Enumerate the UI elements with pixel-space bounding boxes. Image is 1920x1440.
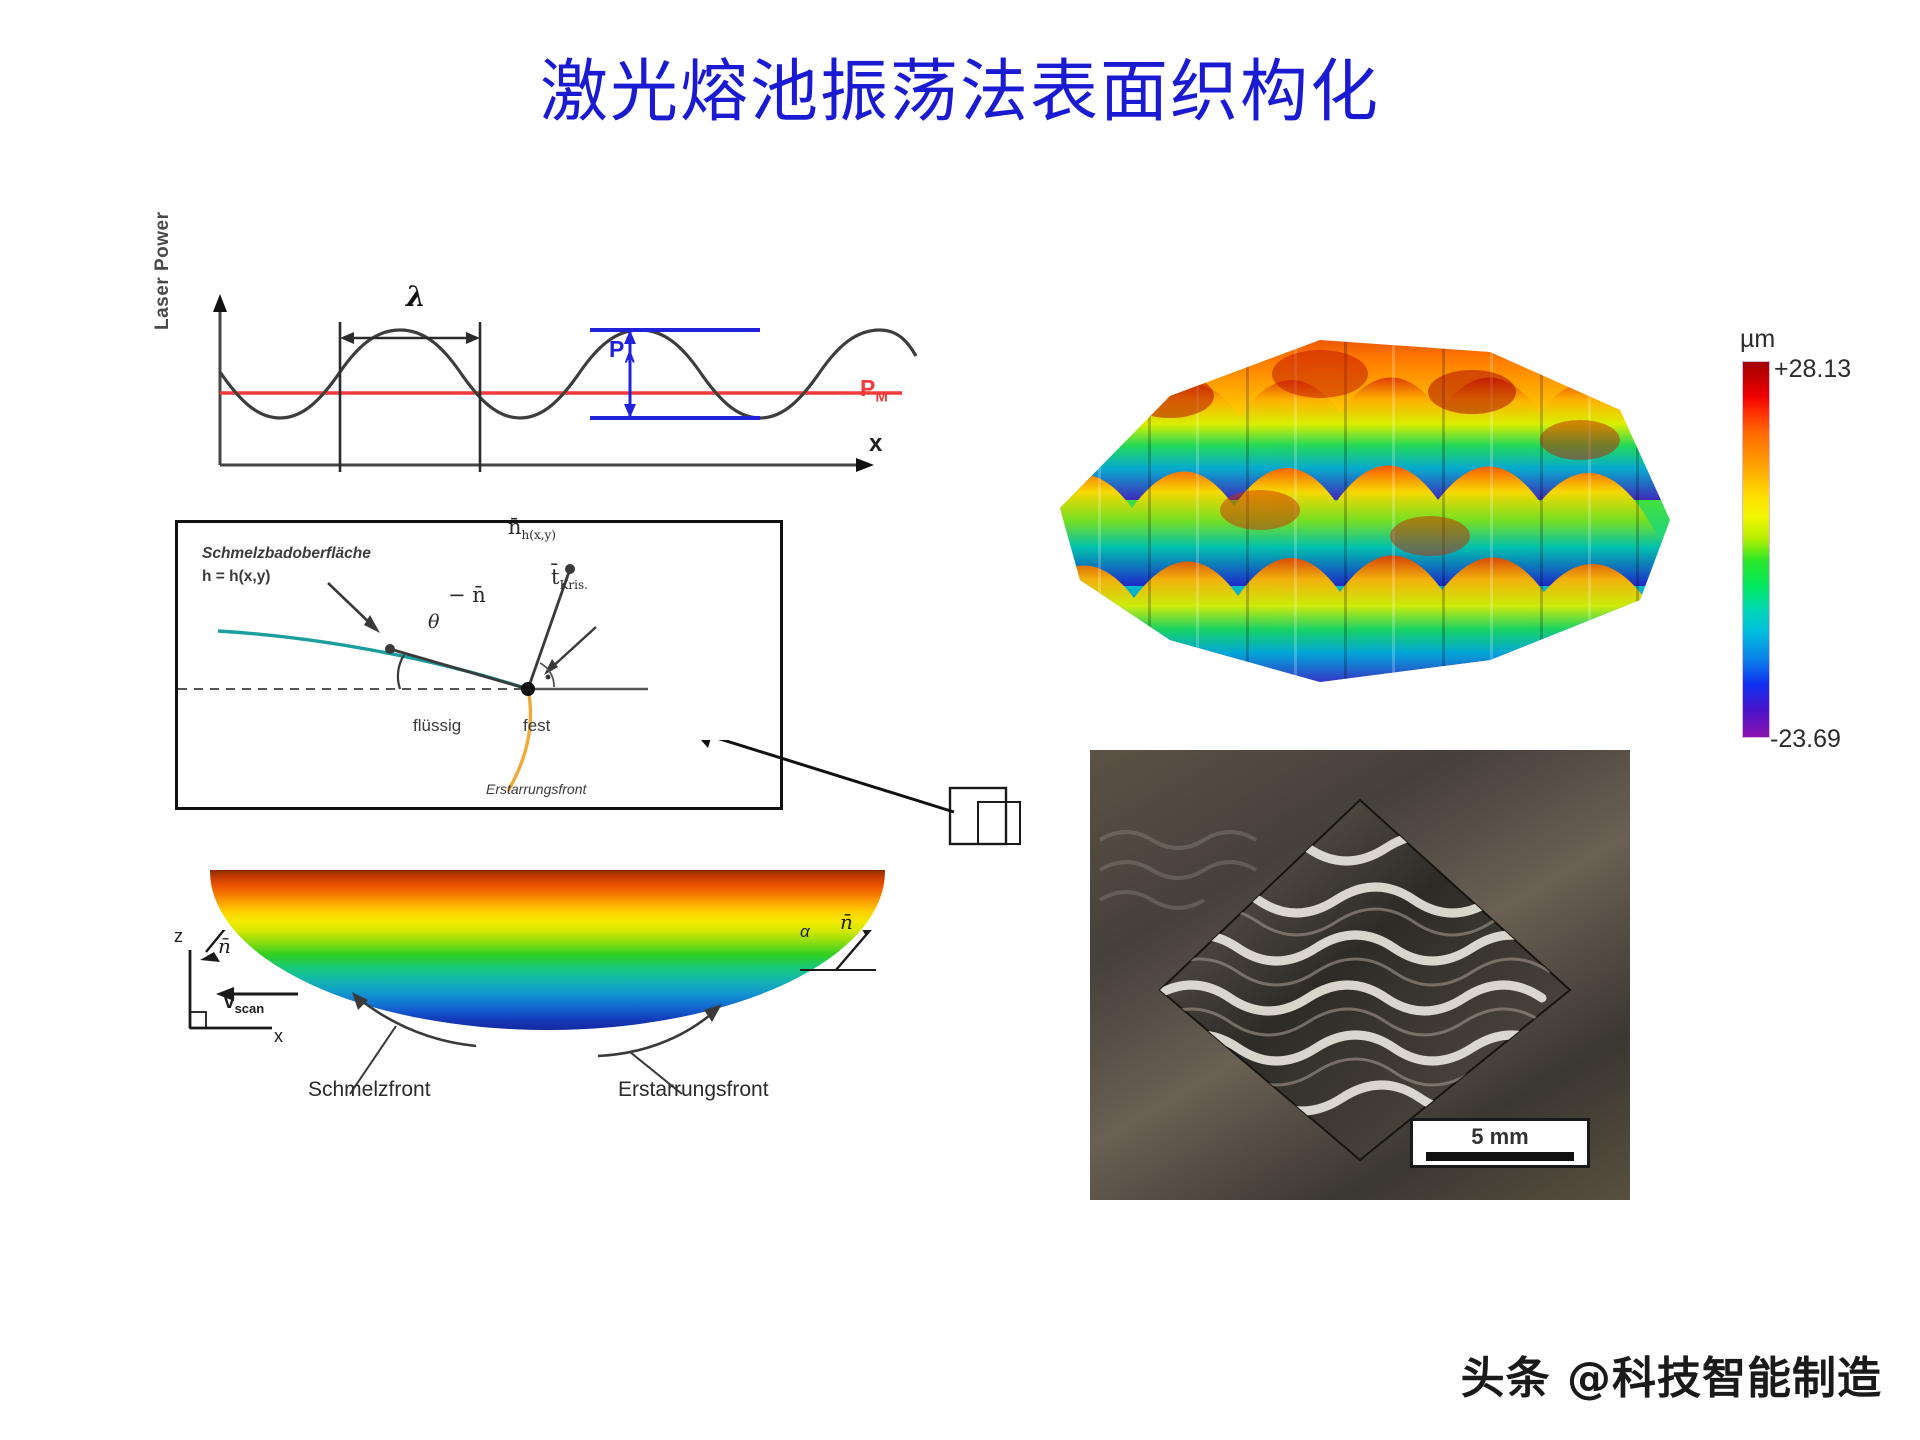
melt-front-label: Schmelzfront xyxy=(308,1078,431,1102)
colorbar-unit-label: µm xyxy=(1740,325,1775,354)
scale-bar: 5 mm xyxy=(1410,1118,1590,1168)
surface-topography-3d xyxy=(1020,300,1700,720)
melt-pool-z-axis-label: z xyxy=(174,926,183,947)
surface-normal-vector-label: n̄h(x,y) xyxy=(508,515,556,542)
melt-pool-diagram: z x n̄ vscan α n̄ Schmelzfront Erstarrun… xyxy=(160,870,940,1120)
laser-power-y-axis-label: Laser Power xyxy=(152,212,174,331)
colorbar-max-value: +28.13 xyxy=(1774,355,1851,384)
laser-power-plot xyxy=(160,290,920,500)
solidification-front-label-inner: Erstarrungsfront xyxy=(486,781,586,797)
solidification-front-label: Erstarrungsfront xyxy=(618,1078,769,1102)
scan-velocity-sub: scan xyxy=(235,1001,265,1016)
mean-power-label-sub: M xyxy=(875,389,888,406)
solidification-detail-diagram: Schmelzbadoberfläche h = h(x,y) flüssig … xyxy=(175,520,783,810)
watermark: 头条 @科技智能制造 xyxy=(1461,1342,1882,1406)
crystal-direction-vector-label: t̄Kris. xyxy=(551,565,588,592)
scan-velocity-label: vscan xyxy=(224,992,264,1016)
theta-angle-label: θ xyxy=(428,611,439,633)
wavelength-label: λ xyxy=(406,280,426,313)
amplitude-label-sub: A xyxy=(624,350,635,367)
crystal-direction-vector-sub: Kris. xyxy=(559,578,588,592)
liquid-region-label: flüssig xyxy=(413,716,461,736)
melt-pool-x-axis-label: x xyxy=(274,1026,283,1047)
colorbar-min-value: -23.69 xyxy=(1770,725,1841,754)
laser-power-x-axis-label: x xyxy=(869,430,882,458)
scan-velocity-text: v xyxy=(224,992,235,1013)
amplitude-label: PA xyxy=(609,336,635,367)
melt-surface-equation: h = h(x,y) xyxy=(202,568,270,586)
melt-pool-normal-label: n̄ xyxy=(218,934,231,958)
slide-root: 激光熔池振荡法表面织构化 Laser Power xyxy=(0,0,1920,1440)
page-title: 激光熔池振荡法表面织构化 xyxy=(0,56,1920,131)
surface-normal-vector-text: n̄ xyxy=(508,515,522,539)
solid-region-label: fest xyxy=(523,716,550,736)
scale-bar-line xyxy=(1426,1152,1574,1161)
solidification-vectors xyxy=(178,523,780,807)
textured-sample-photo: 5 mm xyxy=(1090,750,1630,1200)
negative-normal-vector-label: − n̄ xyxy=(448,583,486,607)
colorbar-gradient xyxy=(1742,361,1770,738)
surface-normal-vector-sub: h(x,y) xyxy=(522,528,556,542)
mean-power-label-text: P xyxy=(860,375,875,401)
mean-power-label: PM xyxy=(860,375,888,406)
laser-power-chart: Laser Power λ xyxy=(160,290,920,500)
amplitude-label-text: P xyxy=(609,336,624,362)
topography-colorbar: µm +28.13 -23.69 xyxy=(1740,325,1910,795)
topography-surface xyxy=(1020,300,1700,720)
alpha-angle-label: α xyxy=(800,922,810,942)
melt-pool-normal-label-right: n̄ xyxy=(840,910,853,934)
scale-bar-label: 5 mm xyxy=(1471,1126,1528,1148)
melt-surface-label: Schmelzbadoberfläche xyxy=(202,545,371,563)
